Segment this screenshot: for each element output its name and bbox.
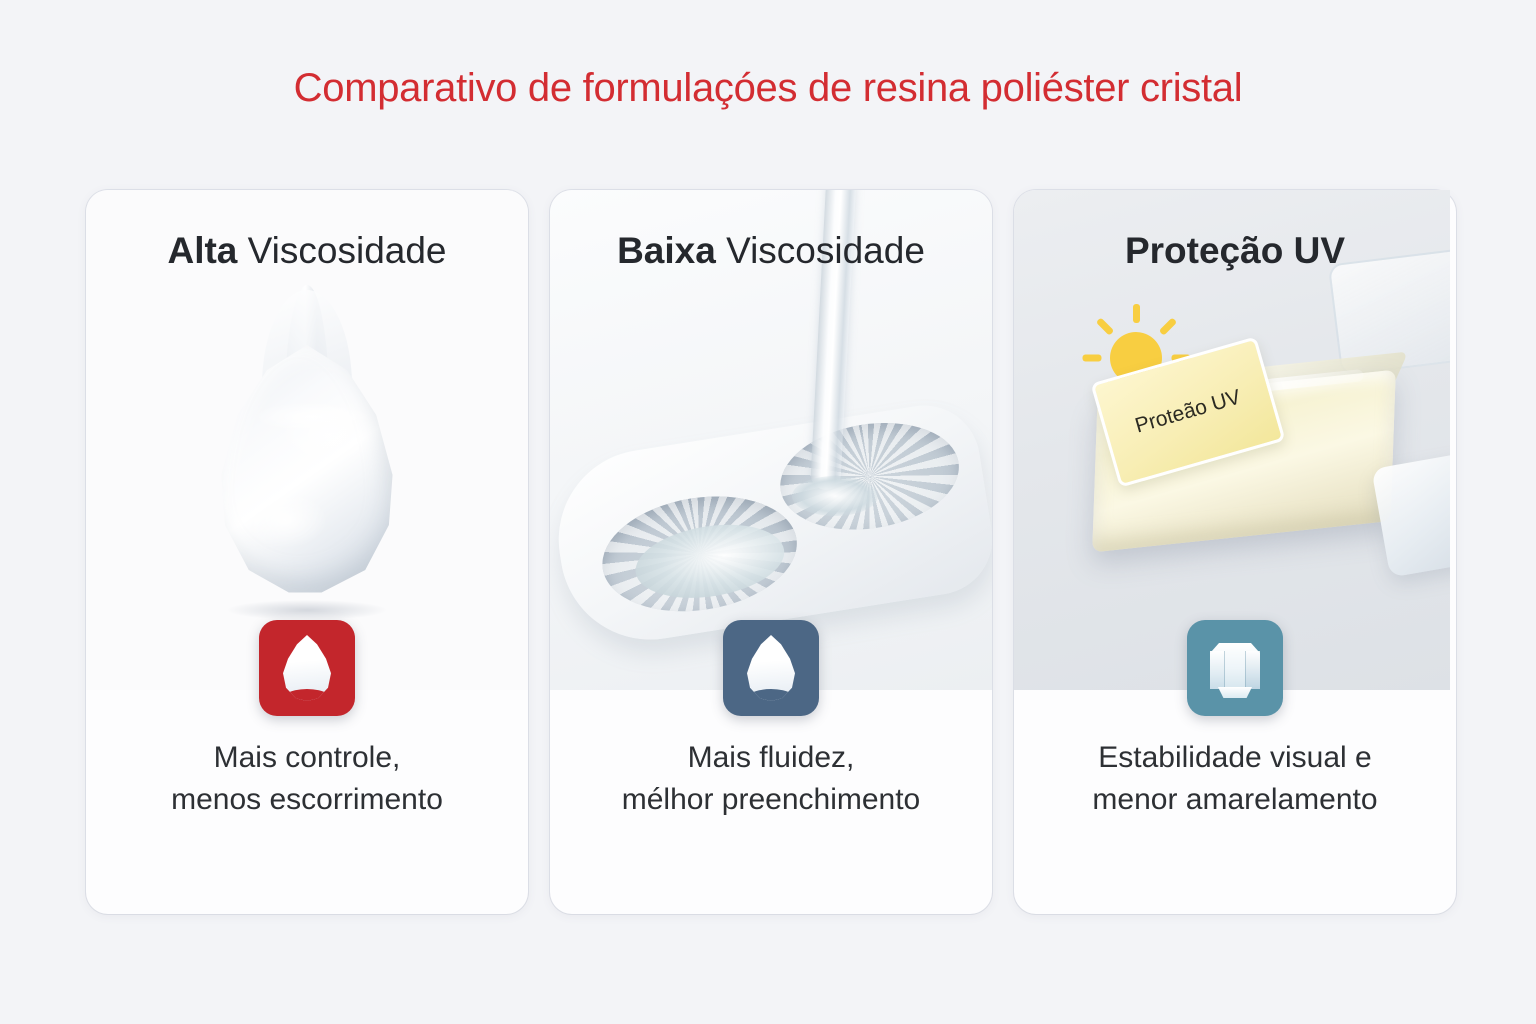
card-2-heading: Baixa Viscosidade <box>550 230 992 272</box>
card-alta-viscosidade[interactable]: Alta Viscosidade Mais controle, menos es… <box>86 190 528 914</box>
card-2-caption-line2: mélhor preenchimento <box>550 779 992 822</box>
badge-crystal-teal <box>1187 620 1283 716</box>
card-1-heading: Alta Viscosidade <box>86 230 528 272</box>
clear-resin-block <box>1371 448 1450 577</box>
badge-droplet-blue <box>723 620 819 716</box>
comparison-cards: Alta Viscosidade Mais controle, menos es… <box>0 190 1536 914</box>
card-2-caption-line1: Mais fluidez, <box>550 737 992 780</box>
resin-splash <box>792 476 878 516</box>
card-1-caption: Mais controle, menos escorrimento <box>86 737 528 822</box>
card-baixa-viscosidade[interactable]: Baixa Viscosidade Mais fluidez, mélhor p… <box>550 190 992 914</box>
droplet-icon <box>282 635 332 701</box>
sun-ray <box>1159 317 1177 335</box>
card-2-caption: Mais fluidez, mélhor preenchimento <box>550 737 992 822</box>
sun-ray <box>1133 304 1140 323</box>
card-2-heading-strong: Baixa <box>617 230 716 271</box>
card-protecao-uv[interactable]: Proteão UV Proteção UV Estabilidade visu… <box>1014 190 1456 914</box>
card-1-caption-line1: Mais controle, <box>86 737 528 780</box>
droplet-highlight <box>254 402 370 432</box>
card-2-heading-rest: Viscosidade <box>716 230 925 271</box>
droplet-icon <box>746 635 796 701</box>
sun-ray <box>1096 317 1114 335</box>
uv-protection-tag-label: Proteão UV <box>1133 386 1244 439</box>
silicone-mold <box>550 398 992 653</box>
crystal-facet-left <box>1210 651 1225 689</box>
card-3-caption: Estabilidade visual e menor amarelamento <box>1014 737 1456 822</box>
crystal-block-icon <box>1206 637 1264 699</box>
droplet-shadow <box>228 600 386 620</box>
card-1-heading-strong: Alta <box>167 230 237 271</box>
droplet-body <box>216 345 398 595</box>
card-3-heading: Proteção UV <box>1014 230 1456 272</box>
card-3-caption-line1: Estabilidade visual e <box>1014 737 1456 780</box>
card-1-heading-rest: Viscosidade <box>237 230 446 271</box>
card-3-caption-line2: menor amarelamento <box>1014 779 1456 822</box>
sun-ray <box>1083 355 1102 362</box>
card-1-caption-line2: menos escorrimento <box>86 779 528 822</box>
badge-droplet-red <box>259 620 355 716</box>
crystal-facet-right <box>1245 651 1260 689</box>
card-3-heading-strong: Proteção UV <box>1125 230 1345 271</box>
crystal-base <box>1218 687 1252 698</box>
mold-flutes-back <box>773 411 967 542</box>
page-title: Comparativo de formulaçóes de resina pol… <box>0 66 1536 111</box>
